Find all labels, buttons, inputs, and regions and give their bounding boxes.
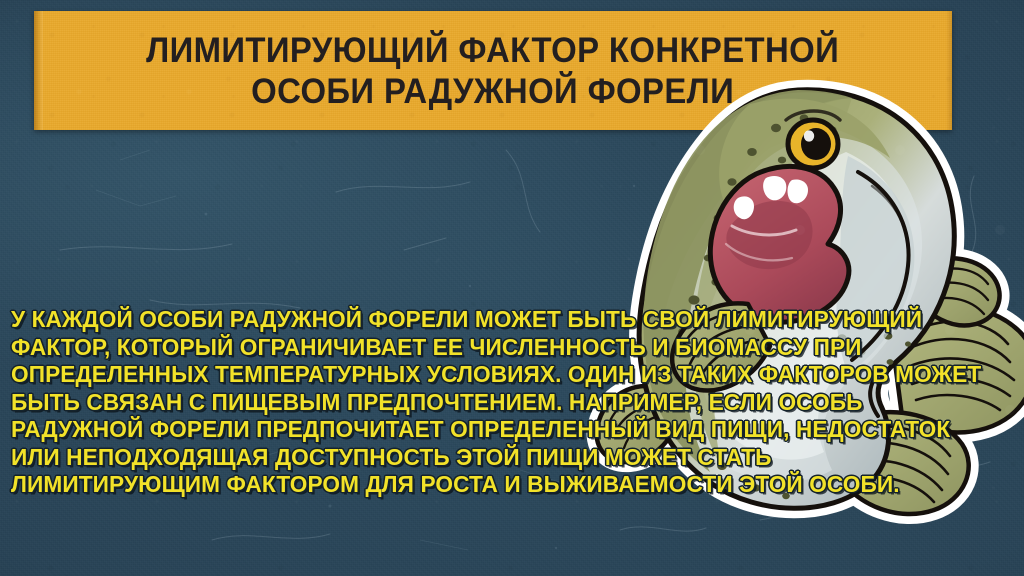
banner-left-edge	[34, 11, 43, 130]
page-title: ЛИМИТИРУЮЩИЙ ФАКТОР КОНКРЕТНОЙ ОСОБИ РАД…	[126, 30, 860, 112]
body-line: ОПРЕДЕЛЕННЫХ ТЕМПЕРАТУРНЫХ УСЛОВИЯХ. ОДИ…	[11, 361, 998, 389]
body-line: ИЛИ НЕПОДХОДЯЩАЯ ДОСТУПНОСТЬ ЭТОЙ ПИЩИ М…	[11, 444, 998, 472]
title-banner: ЛИМИТИРУЮЩИЙ ФАКТОР КОНКРЕТНОЙ ОСОБИ РАД…	[34, 11, 952, 130]
banner-right-edge	[946, 11, 952, 130]
slide-root: ЛИМИТИРУЮЩИЙ ФАКТОР КОНКРЕТНОЙ ОСОБИ РАД…	[0, 0, 1024, 576]
body-line: БЫТЬ СВЯЗАН С ПИЩЕВЫМ ПРЕДПОЧТЕНИЕМ. НАП…	[11, 389, 998, 417]
body-paragraph: У КАЖДОЙ ОСОБИ РАДУЖНОЙ ФОРЕЛИ МОЖЕТ БЫТ…	[11, 306, 1013, 499]
body-line: У КАЖДОЙ ОСОБИ РАДУЖНОЙ ФОРЕЛИ МОЖЕТ БЫТ…	[11, 306, 998, 334]
body-line: РАДУЖНОЙ ФОРЕЛИ ПРЕДПОЧИТАЕТ ОПРЕДЕЛЕННЫ…	[11, 416, 998, 444]
body-line: ЛИМИТИРУЮЩИМ ФАКТОРОМ ДЛЯ РОСТА И ВЫЖИВА…	[11, 471, 998, 499]
body-line: ФАКТОР, КОТОРЫЙ ОГРАНИЧИВАЕТ ЕЕ ЧИСЛЕННО…	[11, 334, 998, 362]
